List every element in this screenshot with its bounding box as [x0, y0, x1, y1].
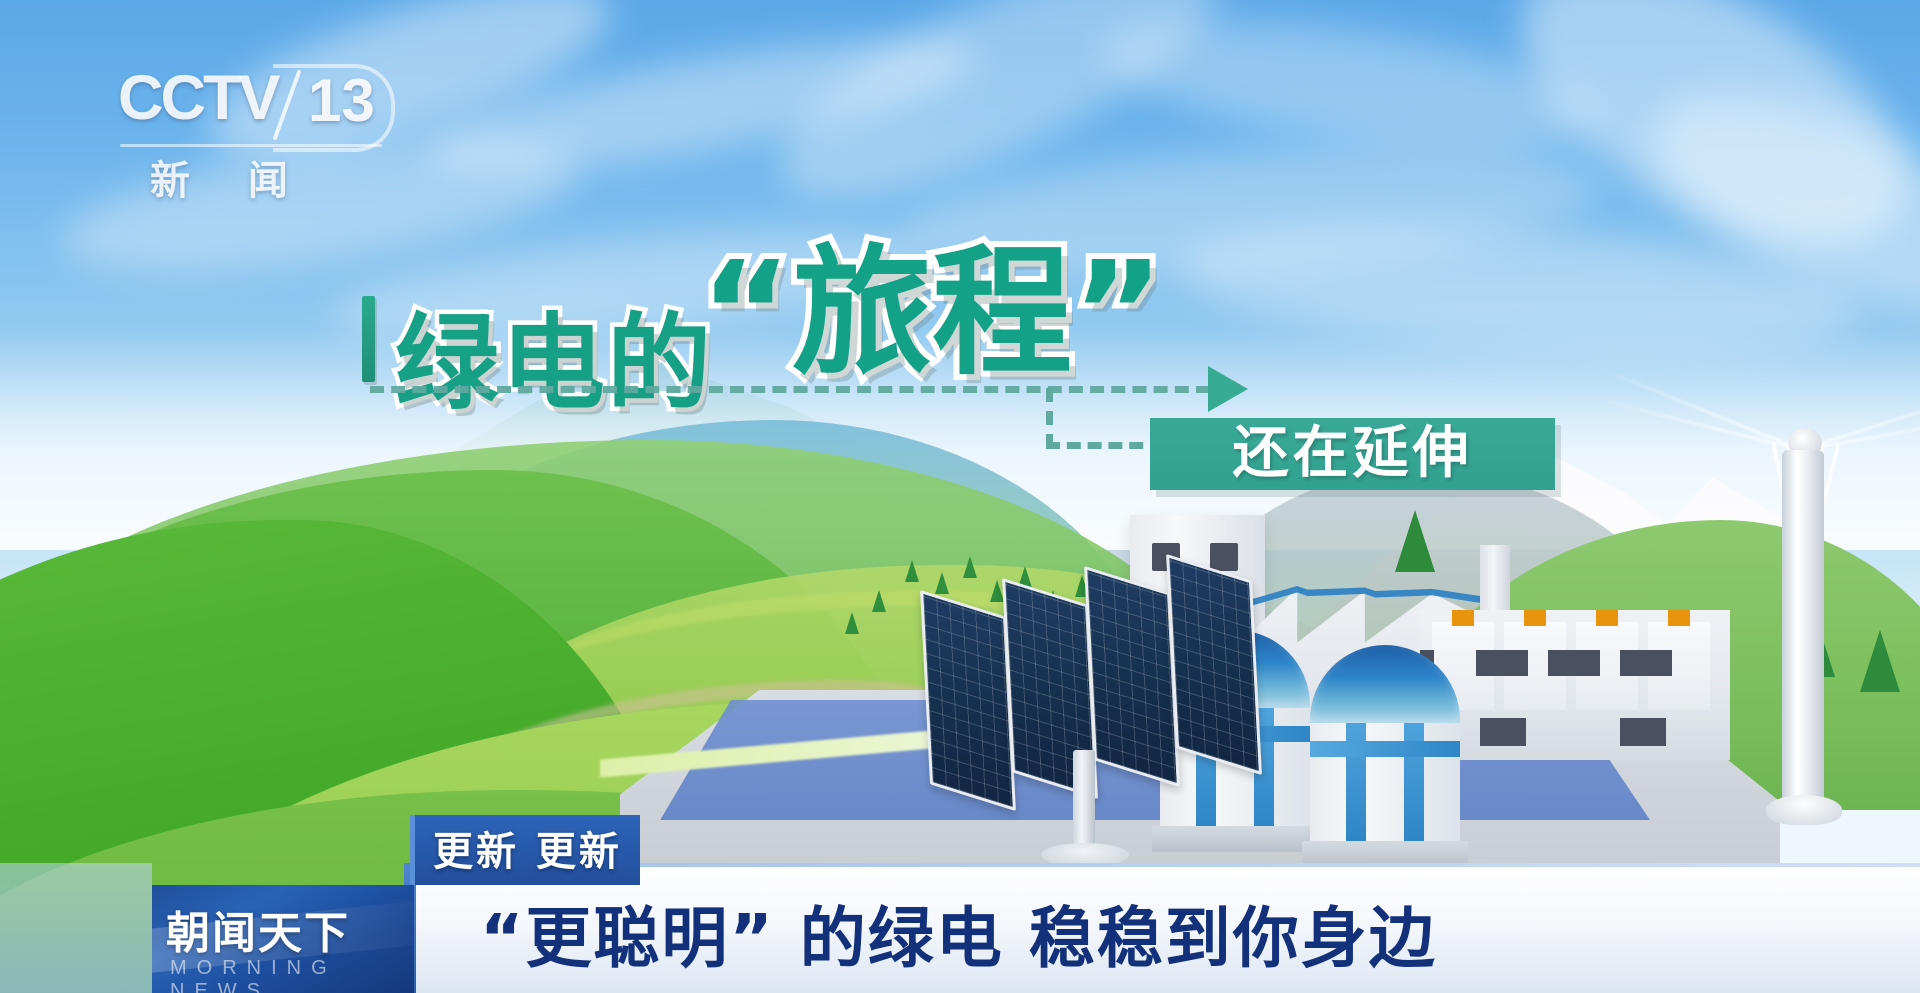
news-headline: “更聪明” 的绿电 稳稳到你身边	[480, 885, 1437, 981]
dome-base	[1152, 826, 1318, 852]
dashed-connector-line	[370, 386, 1210, 393]
dome-stripe	[1310, 741, 1460, 757]
logo-channel-number: 13	[308, 66, 375, 135]
program-name-cn: 朝闻天下	[166, 897, 350, 961]
roof-marker	[1668, 610, 1690, 626]
building-door	[1620, 718, 1666, 746]
solar-panel-array	[925, 575, 1255, 805]
logo-subtitle: 新 闻	[150, 148, 310, 206]
building-window	[1620, 650, 1672, 676]
status-banner-label: 还在延伸	[1150, 418, 1555, 490]
solar-panel	[1166, 554, 1262, 775]
roof-marker	[1596, 610, 1618, 626]
broadcast-frame: 绿电的 “旅程” 还在延伸 CCTV 13 新 闻 朝闻天下 MORNING N…	[0, 0, 1920, 993]
dashed-connector-drop	[1046, 388, 1053, 448]
turbine-base	[1766, 795, 1842, 825]
solar-mast	[1073, 750, 1095, 855]
tower-window	[1210, 543, 1238, 571]
arrow-icon	[1208, 366, 1248, 412]
warehouse-building	[1420, 610, 1730, 760]
logo-cctv-text: CCTV	[118, 62, 278, 134]
turbine-tower	[1782, 450, 1824, 810]
pine-tree	[872, 590, 886, 612]
building-window	[1476, 650, 1528, 676]
building-window	[1548, 650, 1600, 676]
building-door	[1480, 718, 1526, 746]
wind-turbine	[1700, 300, 1920, 830]
logo-underline	[120, 144, 382, 147]
pine-tree	[905, 560, 919, 582]
dashed-connector-branch	[1046, 442, 1164, 449]
program-name-en: MORNING NEWS	[170, 957, 414, 993]
lower-third-left-cap	[0, 863, 152, 993]
roof-marker	[1524, 610, 1546, 626]
program-logo: 朝闻天下 MORNING NEWS	[152, 885, 414, 993]
update-tag: 更新 更新	[410, 815, 640, 885]
lower-third-bar: 朝闻天下 MORNING NEWS “更聪明” 的绿电 稳稳到你身边	[0, 863, 1920, 993]
solar-panel	[1084, 566, 1180, 787]
pine-tree	[845, 612, 859, 634]
pine-tree-large	[1395, 510, 1435, 572]
update-tag-label: 更新 更新	[433, 829, 622, 875]
graphic-title-prefix: 绿电的	[395, 278, 713, 429]
roof-marker	[1452, 610, 1474, 626]
title-accent-bar	[362, 296, 375, 382]
graphic-title-quoted: “旅程”	[700, 200, 1164, 402]
cctv13-news-logo: CCTV 13 新 闻	[118, 62, 388, 182]
status-banner: 还在延伸	[1150, 418, 1555, 490]
solar-panel	[920, 590, 1016, 811]
